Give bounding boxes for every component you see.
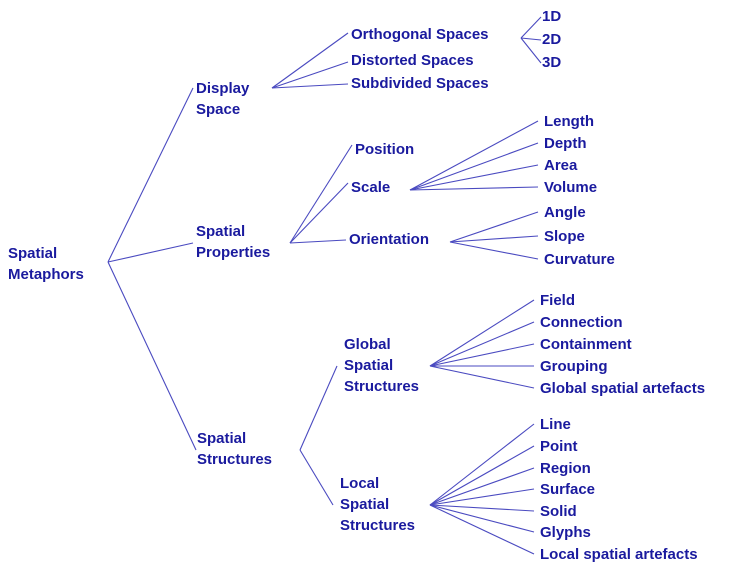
edge-scale-to-depth bbox=[410, 143, 538, 190]
node-position[interactable]: Position bbox=[355, 139, 414, 160]
edge-orthogonal-spaces-to-2d bbox=[521, 38, 541, 40]
node-surface[interactable]: Surface bbox=[540, 479, 595, 500]
node-line[interactable]: Line bbox=[540, 414, 571, 435]
node-depth[interactable]: Depth bbox=[544, 133, 587, 154]
edge-orientation-to-angle bbox=[450, 212, 538, 242]
node-curvature[interactable]: Curvature bbox=[544, 249, 615, 270]
node-spatial-metaphors[interactable]: Spatial Metaphors bbox=[8, 243, 84, 285]
edge-scale-to-area bbox=[410, 165, 538, 190]
node-display-space[interactable]: Display Space bbox=[196, 78, 249, 120]
node-containment[interactable]: Containment bbox=[540, 334, 632, 355]
node-region[interactable]: Region bbox=[540, 458, 591, 479]
edge-local-to-local-spatial-artefacts bbox=[430, 505, 534, 554]
edge-local-to-solid bbox=[430, 505, 534, 511]
node-local-spatial-structures[interactable]: Local Spatial Structures bbox=[340, 473, 415, 536]
node-scale[interactable]: Scale bbox=[351, 177, 390, 198]
node-field[interactable]: Field bbox=[540, 290, 575, 311]
node-spatial-properties[interactable]: Spatial Properties bbox=[196, 221, 270, 263]
node-length[interactable]: Length bbox=[544, 111, 594, 132]
node-orientation[interactable]: Orientation bbox=[349, 229, 429, 250]
edge-scale-to-length bbox=[410, 121, 538, 190]
edge-local-to-point bbox=[430, 446, 534, 505]
node-area[interactable]: Area bbox=[544, 155, 577, 176]
node-glyphs[interactable]: Glyphs bbox=[540, 522, 591, 543]
edge-spatial-structures-to-local bbox=[300, 450, 333, 505]
edge-spatial-structures-to-global bbox=[300, 366, 337, 450]
node-spatial-structures[interactable]: Spatial Structures bbox=[197, 428, 272, 470]
edge-root-to-spatial-properties bbox=[108, 243, 193, 262]
edge-global-to-field bbox=[430, 300, 534, 366]
node-1d[interactable]: 1D bbox=[542, 6, 561, 27]
edge-spatial-properties-to-orientation bbox=[290, 240, 346, 243]
edge-local-to-line bbox=[430, 424, 534, 505]
node-connection[interactable]: Connection bbox=[540, 312, 623, 333]
edge-local-to-region bbox=[430, 468, 534, 505]
node-point[interactable]: Point bbox=[540, 436, 578, 457]
edge-local-to-surface bbox=[430, 489, 534, 505]
node-solid[interactable]: Solid bbox=[540, 501, 577, 522]
edge-display-space-to-orthogonal-spaces bbox=[272, 33, 348, 88]
edge-orthogonal-spaces-to-1d bbox=[521, 17, 541, 38]
edge-global-to-connection bbox=[430, 322, 534, 366]
node-slope[interactable]: Slope bbox=[544, 226, 585, 247]
node-orthogonal-spaces[interactable]: Orthogonal Spaces bbox=[351, 24, 489, 45]
edge-global-to-global-spatial-artefacts bbox=[430, 366, 534, 388]
node-angle[interactable]: Angle bbox=[544, 202, 586, 223]
node-3d[interactable]: 3D bbox=[542, 52, 561, 73]
edge-spatial-properties-to-position bbox=[290, 145, 352, 243]
edge-global-to-containment bbox=[430, 344, 534, 366]
node-volume[interactable]: Volume bbox=[544, 177, 597, 198]
node-global-spatial-artefacts[interactable]: Global spatial artefacts bbox=[540, 378, 705, 399]
edge-orientation-to-curvature bbox=[450, 242, 538, 259]
edge-root-to-display-space bbox=[108, 88, 193, 262]
node-distorted-spaces[interactable]: Distorted Spaces bbox=[351, 50, 474, 71]
spatial-metaphors-tree-diagram: Spatial Metaphors Display Space Spatial … bbox=[0, 0, 750, 567]
node-subdivided-spaces[interactable]: Subdivided Spaces bbox=[351, 73, 489, 94]
edge-orientation-to-slope bbox=[450, 236, 538, 242]
edge-local-to-glyphs bbox=[430, 505, 534, 532]
node-local-spatial-artefacts[interactable]: Local spatial artefacts bbox=[540, 544, 698, 565]
node-global-spatial-structures[interactable]: Global Spatial Structures bbox=[344, 334, 419, 397]
edge-orthogonal-spaces-to-3d bbox=[521, 38, 541, 63]
node-2d[interactable]: 2D bbox=[542, 29, 561, 50]
edge-scale-to-volume bbox=[410, 187, 538, 190]
node-grouping[interactable]: Grouping bbox=[540, 356, 608, 377]
edge-spatial-properties-to-scale bbox=[290, 183, 348, 243]
edge-root-to-spatial-structures bbox=[108, 262, 196, 450]
